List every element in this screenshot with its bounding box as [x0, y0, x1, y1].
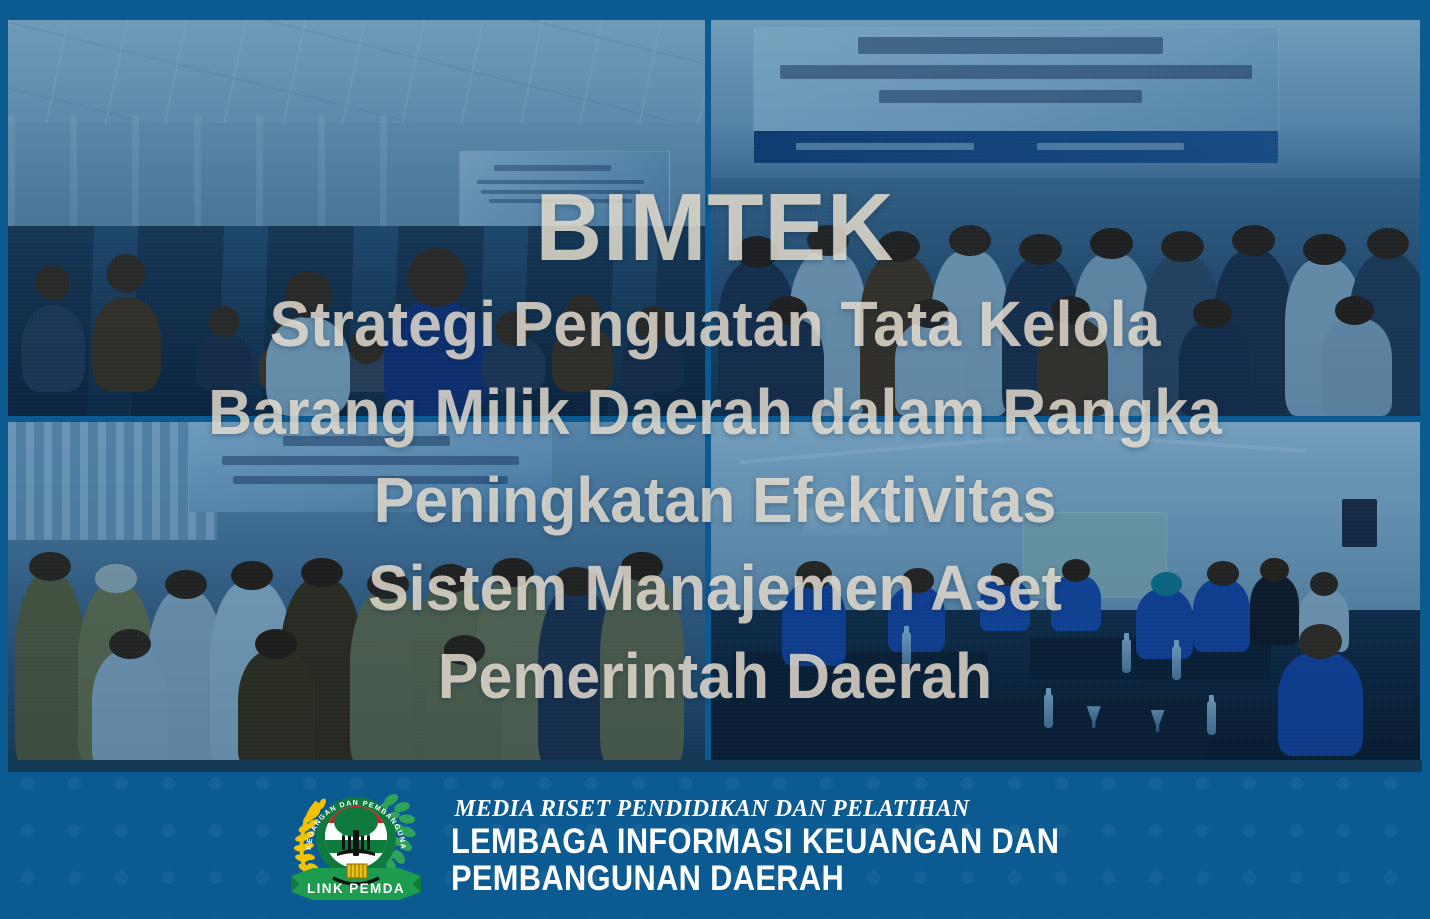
- projection-screen: [1023, 512, 1167, 598]
- air-conditioner: [803, 509, 888, 537]
- desk-rows: [8, 226, 705, 416]
- ceiling-grid: [8, 20, 705, 155]
- event-banner: [459, 151, 670, 232]
- banner-venue-bar: [754, 131, 1279, 163]
- footer-text-block: MEDIA RISET PENDIDIKAN DAN PELATIHAN LEM…: [451, 795, 1142, 897]
- footer-org-line-1: LEMBAGA INFORMASI KEUANGAN DAN: [451, 823, 1059, 860]
- backdrop: [711, 20, 1420, 178]
- footer-tagline: MEDIA RISET PENDIDIKAN DAN PELATIHAN: [455, 795, 1139, 823]
- wall-pillars: [8, 115, 440, 273]
- wall-speaker: [1342, 499, 1377, 548]
- event-banner: [189, 422, 551, 512]
- photo-training-room-blue-shirts: [711, 422, 1420, 770]
- ribbon: LINK PEMDA: [291, 864, 421, 900]
- footer-bar: LEMBAGA KEUANGAN DAN PEMBANGUNAN DAERAH: [0, 772, 1430, 919]
- photo-grain: [8, 422, 705, 770]
- footer-org-line-2: PEMBANGUNAN DAERAH: [451, 860, 1059, 897]
- photo-group-photo-backdrop: [711, 20, 1420, 416]
- wall: [711, 485, 1420, 638]
- photo-grain: [8, 20, 705, 416]
- photo-grain: [711, 422, 1420, 770]
- link-pemda-emblem: LEMBAGA KEUANGAN DAN PEMBANGUNAN DAERAH: [287, 780, 425, 912]
- ceiling: [711, 422, 1420, 499]
- photo-seminar-room-classroom: [8, 20, 705, 416]
- conference-tables: [711, 610, 1420, 770]
- collage-bottom-strip: [8, 760, 1422, 772]
- svg-text:LINK PEMDA: LINK PEMDA: [307, 881, 405, 896]
- photo-collage: [8, 20, 1422, 770]
- ceiling: [8, 20, 705, 155]
- event-banner: [754, 28, 1279, 131]
- curtain: [8, 422, 217, 540]
- group-participants: [711, 131, 1420, 416]
- wall: [8, 123, 705, 266]
- photo-grain: [711, 20, 1420, 416]
- group-participants: [8, 471, 705, 770]
- poster-canvas: BIMTEK Strategi Penguatan Tata Kelola Ba…: [0, 0, 1430, 919]
- photo-group-photo-blue-banner: [8, 422, 705, 770]
